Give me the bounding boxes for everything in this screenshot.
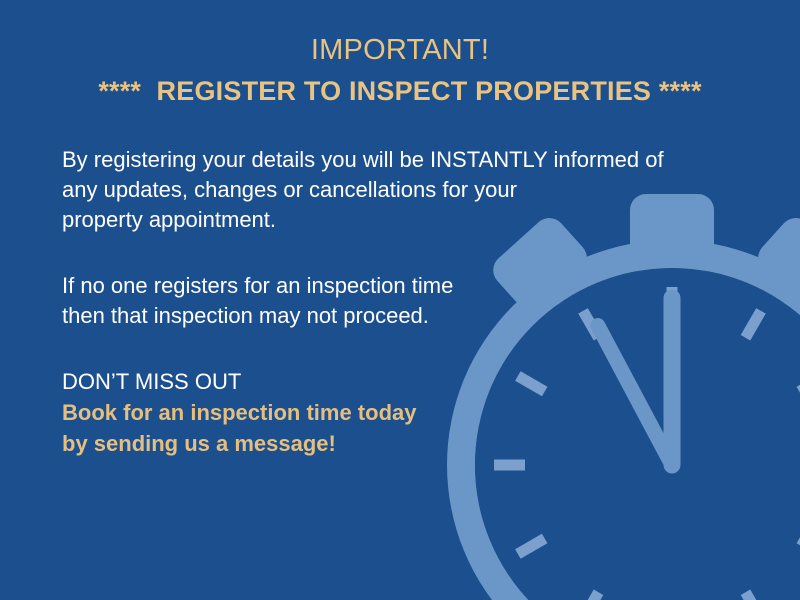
call-to-action-block: DON’T MISS OUT Book for an inspection ti…: [62, 366, 582, 459]
paragraph-registering-details: By registering your details you will be …: [62, 145, 722, 235]
slide-text-content: IMPORTANT! **** REGISTER TO INSPECT PROP…: [0, 0, 800, 600]
body-block: By registering your details you will be …: [62, 145, 722, 331]
page-subtitle: **** REGISTER TO INSPECT PROPERTIES ****: [0, 70, 800, 112]
cta-book-inspection: Book for an inspection time today: [62, 397, 582, 428]
paragraph2-line1: If no one registers for an inspection ti…: [62, 271, 722, 301]
cta-dont-miss-out: DON’T MISS OUT: [62, 366, 582, 397]
slide-canvas: IMPORTANT! **** REGISTER TO INSPECT PROP…: [0, 0, 800, 600]
paragraph1-line3: property appointment.: [62, 205, 722, 235]
paragraph-no-registration-warning: If no one registers for an inspection ti…: [62, 271, 722, 331]
paragraph2-line2: then that inspection may not proceed.: [62, 301, 722, 331]
paragraph-spacer: [62, 235, 722, 271]
paragraph1-line2: any updates, changes or cancellations fo…: [62, 175, 722, 205]
page-title: IMPORTANT!: [0, 30, 800, 70]
cta-send-message: by sending us a message!: [62, 428, 582, 459]
paragraph1-line1: By registering your details you will be …: [62, 145, 722, 175]
heading-block: IMPORTANT! **** REGISTER TO INSPECT PROP…: [0, 30, 800, 112]
